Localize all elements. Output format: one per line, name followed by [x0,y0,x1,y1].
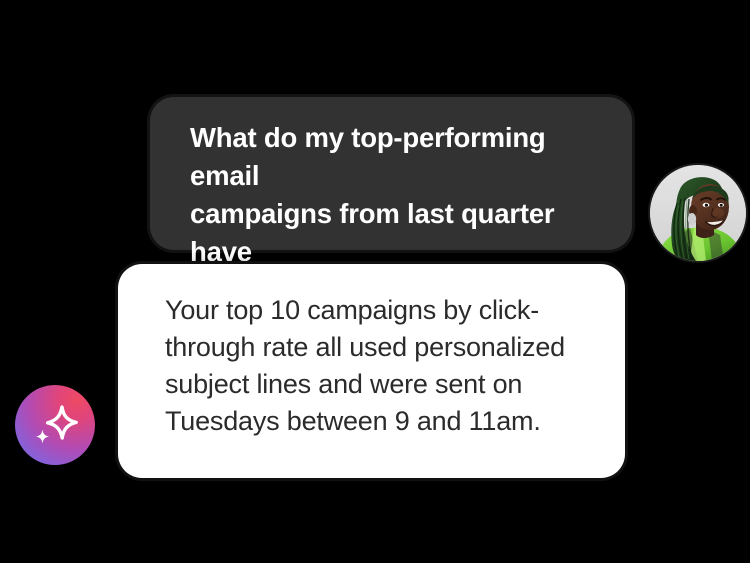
user-avatar [650,165,746,261]
assistant-message-text: Your top 10 campaigns by click- through … [165,292,597,440]
sparkle-icon [24,394,86,456]
chat-preview-canvas: What do my top-performing email campaign… [0,0,750,563]
chat-bubble-user: What do my top-performing email campaign… [150,97,632,250]
ai-assistant-badge [15,385,95,465]
chat-bubble-assistant: Your top 10 campaigns by click- through … [118,264,625,478]
